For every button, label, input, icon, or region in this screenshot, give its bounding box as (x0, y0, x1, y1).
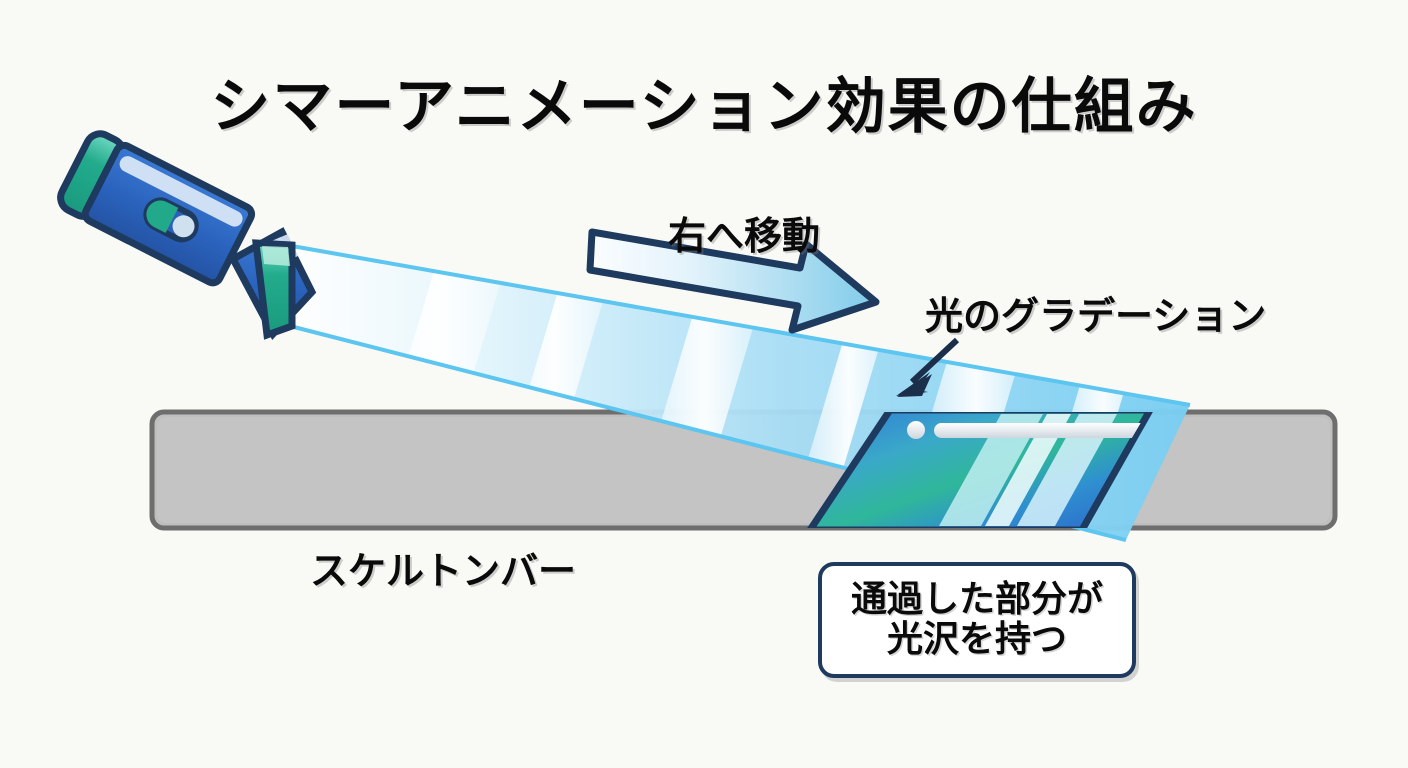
callout-line-2: 光沢を持つ (887, 620, 1067, 660)
label-light-gradient: 光のグラデーション (925, 285, 1266, 340)
label-skeleton-bar: スケルトンバー (310, 540, 576, 595)
diagram-canvas: シマーアニメーション効果の仕組み 右へ移動 光のグラデーション スケルトンバー … (0, 0, 1408, 768)
flashlight (56, 129, 312, 335)
avatar-placeholder (907, 421, 925, 439)
skeleton-placeholders (907, 421, 1154, 439)
label-move-right: 右へ移動 (668, 205, 820, 260)
callout-line-1: 通過した部分が (851, 580, 1103, 620)
callout-box: 通過した部分が 光沢を持つ (818, 562, 1136, 678)
page-title: シマーアニメーション効果の仕組み (0, 58, 1408, 145)
text-line-placeholder (934, 423, 1154, 438)
